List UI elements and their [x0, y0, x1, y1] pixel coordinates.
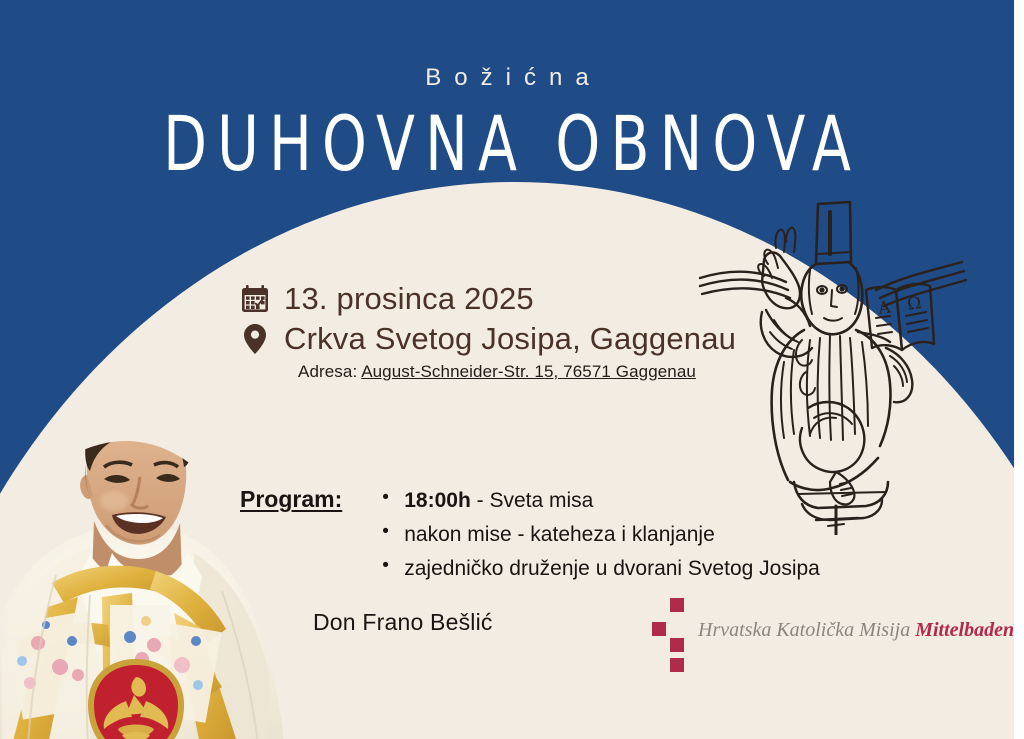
event-location-row: Crkva Svetog Josipa, Gaggenau	[240, 322, 736, 356]
list-item: 18:00h - Sveta misa	[382, 484, 820, 518]
calendar-icon	[240, 282, 270, 316]
poster-header: Božićna DUHOVNA OBNOVA	[0, 0, 1014, 169]
svg-text:Ω: Ω	[906, 293, 923, 315]
event-date-row: 13. prosinca 2025	[240, 282, 736, 316]
program-item-text: nakon mise - kateheza i klanjanje	[404, 523, 715, 546]
mission-logo: Hrvatska Katolička Misija Mittelbaden	[648, 596, 1014, 674]
event-address: Adresa: August-Schneider-Str. 15, 76571 …	[298, 362, 736, 382]
program-item-text: Sveta misa	[489, 489, 593, 512]
address-label: Adresa:	[298, 362, 357, 381]
poster-canvas: Božićna DUHOVNA OBNOVA	[0, 0, 1024, 739]
presenter-name: Don Frano Bešlić	[313, 609, 493, 636]
program-block: Program: 18:00h - Sveta misa nakon mise …	[240, 484, 820, 586]
address-street: August-Schneider-Str. 15, 76571 Gaggenau	[361, 362, 696, 381]
page-title: DUHOVNA OBNOVA	[41, 104, 974, 183]
priest-photo	[0, 325, 306, 739]
mission-logo-text: Hrvatska Katolička Misija Mittelbaden	[698, 619, 1014, 642]
event-info-block: 13. prosinca 2025 Crkva Svetog Josipa, G…	[240, 282, 736, 382]
logo-squares-icon	[648, 596, 696, 674]
program-list: 18:00h - Sveta misa nakon mise - katehez…	[382, 484, 820, 586]
mission-name: Hrvatska Katolička Misija	[698, 619, 915, 641]
program-item-text: zajedničko druženje u dvorani Svetog Jos…	[404, 557, 820, 580]
program-item-time: 18:00h	[404, 489, 471, 512]
kicker-text: Božićna	[0, 66, 1014, 90]
background-white-edge	[1014, 0, 1024, 739]
event-location: Crkva Svetog Josipa, Gaggenau	[284, 322, 736, 356]
mission-region: Mittelbaden	[915, 619, 1014, 641]
event-date: 13. prosinca 2025	[284, 282, 534, 316]
list-item: nakon mise - kateheza i klanjanje	[382, 518, 820, 552]
list-item: zajedničko druženje u dvorani Svetog Jos…	[382, 552, 820, 586]
program-item-sep: -	[471, 489, 490, 512]
